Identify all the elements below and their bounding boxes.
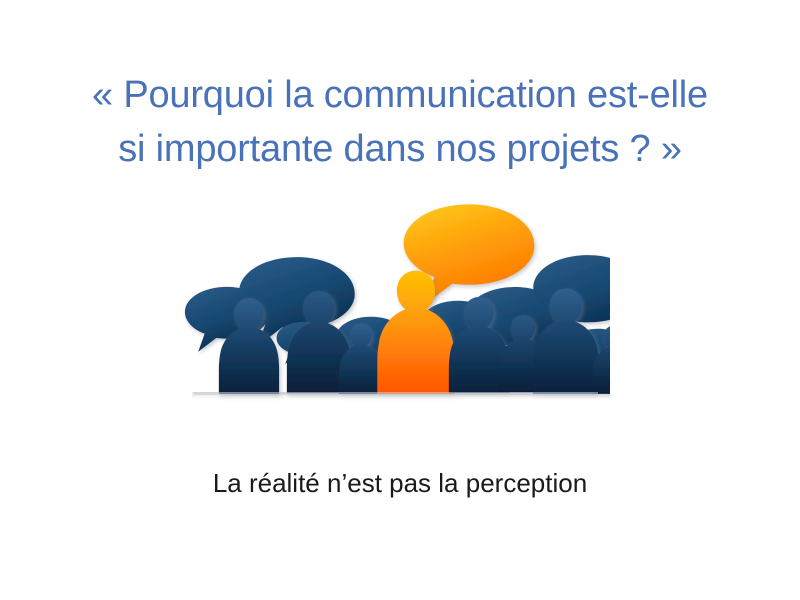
- caption-text: La réalité n’est pas la perception: [0, 466, 800, 500]
- title-line-2: si importante dans nos projets ? »: [0, 122, 800, 176]
- slide-canvas: « Pourquoi la communication est-elle si …: [0, 0, 800, 600]
- crowd-reflection: [180, 392, 610, 446]
- page-title: « Pourquoi la communication est-elle si …: [0, 68, 800, 176]
- crowd-illustration: [180, 196, 610, 446]
- crowd-with-speech-bubbles-icon: [180, 196, 610, 446]
- title-line-1: « Pourquoi la communication est-elle: [0, 68, 800, 122]
- floor-line: [194, 392, 598, 395]
